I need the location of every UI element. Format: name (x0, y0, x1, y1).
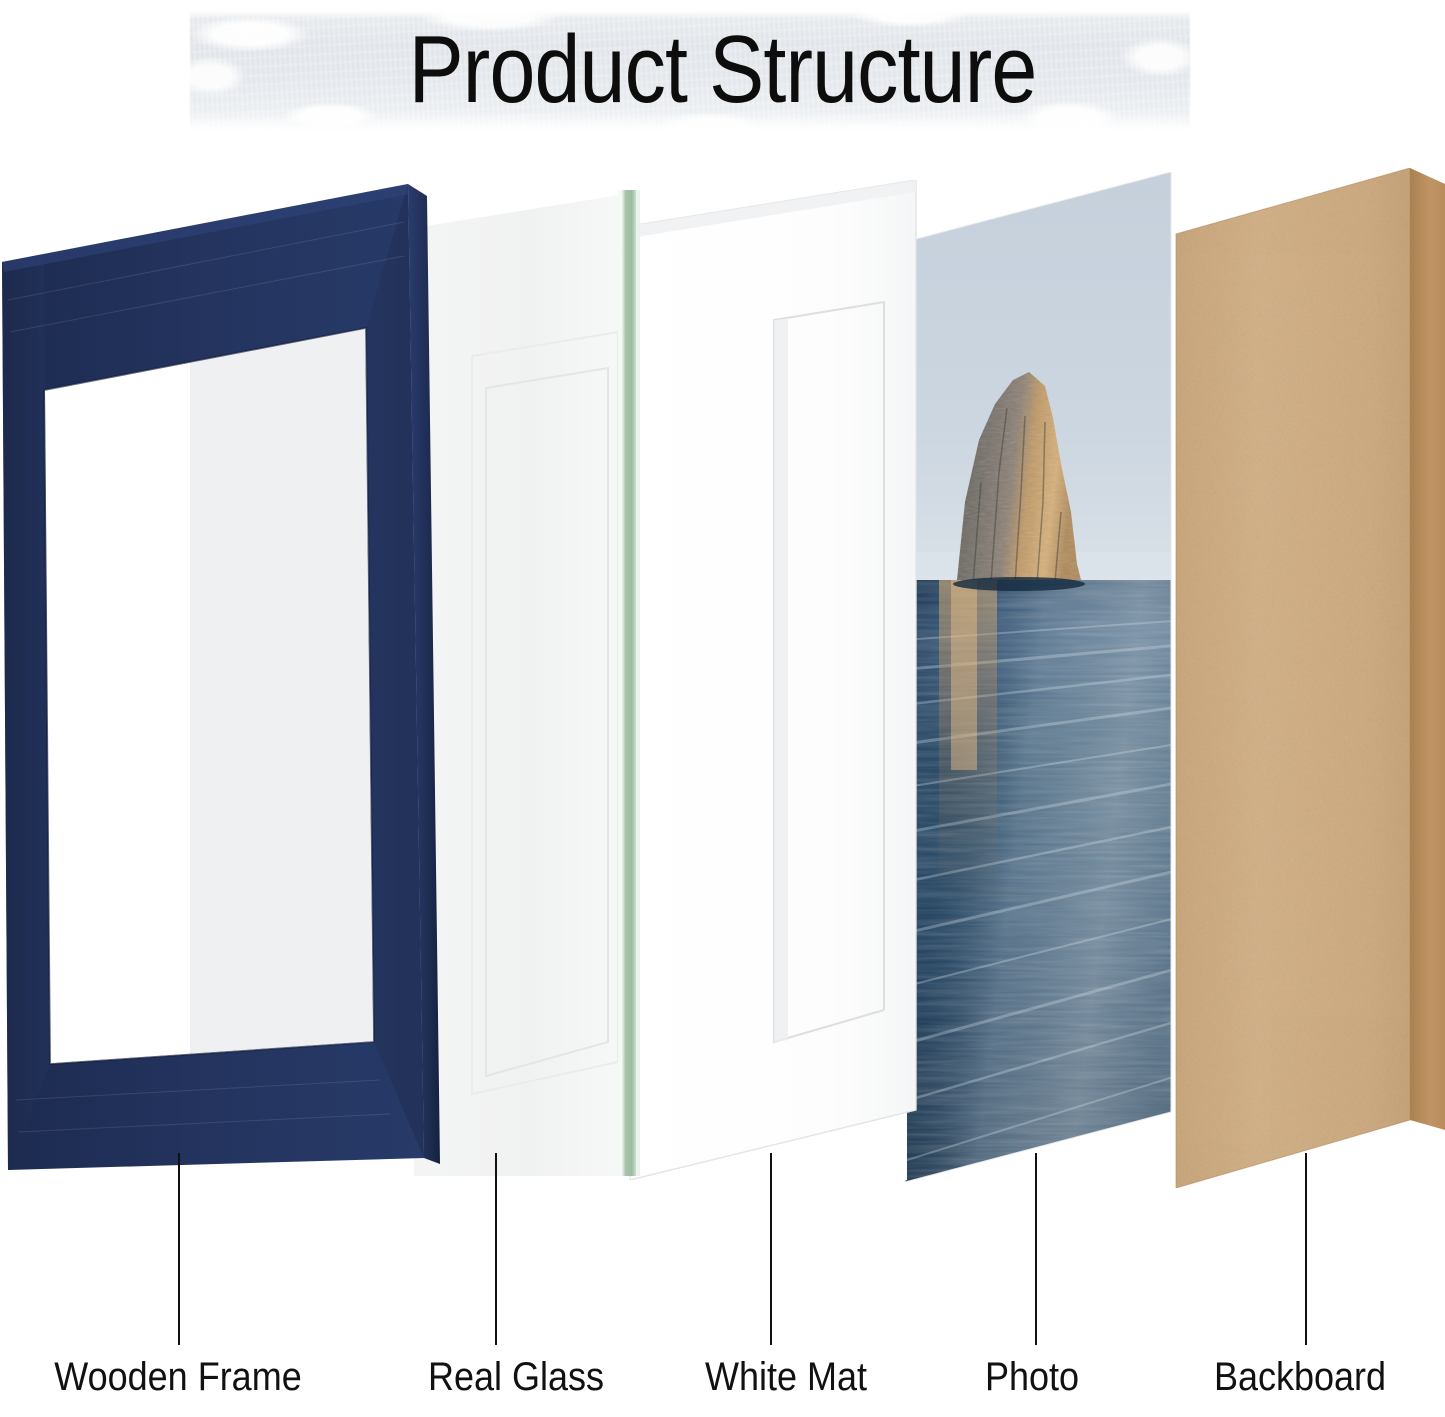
leader-line-backboard (1305, 1153, 1307, 1345)
layer-white-mat[interactable] (628, 180, 938, 1180)
label-photo: Photo (942, 1355, 1122, 1400)
label-real-glass: Real Glass (399, 1355, 633, 1400)
label-wooden-frame: Wooden Frame (18, 1355, 338, 1400)
layer-photo[interactable] (895, 172, 1195, 1182)
backboard-edge (1410, 168, 1445, 1130)
label-backboard: Backboard (1183, 1355, 1417, 1400)
leader-line-real-glass (495, 1153, 497, 1345)
leader-line-photo (1035, 1153, 1037, 1345)
leader-line-white-mat (770, 1153, 772, 1345)
layer-wooden-frame[interactable] (0, 180, 440, 1170)
layer-real-glass[interactable] (410, 176, 670, 1176)
leader-line-wooden-frame (178, 1153, 180, 1345)
layer-backboard[interactable] (1168, 168, 1445, 1188)
glass-green-edge (622, 190, 636, 1176)
label-white-mat: White Mat (678, 1355, 894, 1400)
glass-sheet-face (414, 194, 626, 1176)
exploded-view-diagram: Wooden Frame Real Glass White Mat Photo … (0, 0, 1445, 1417)
